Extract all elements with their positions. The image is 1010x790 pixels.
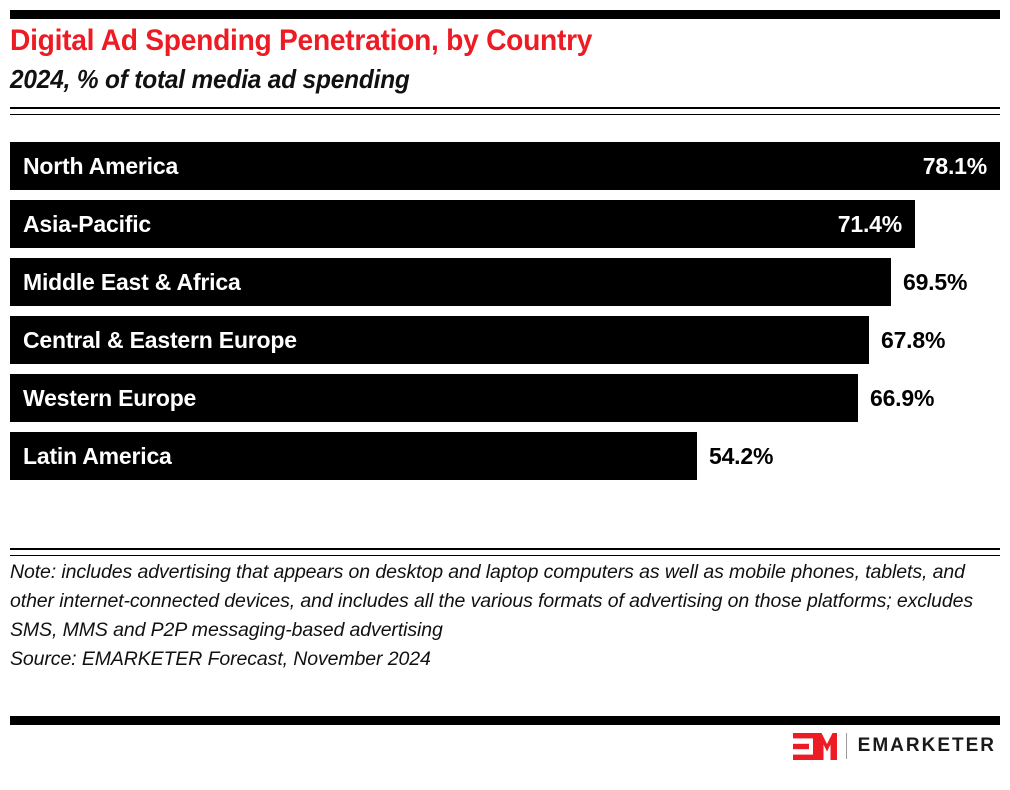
bar-value-label: 78.1% (923, 142, 987, 190)
bar-category-label: Asia-Pacific (23, 200, 151, 248)
header-divider-rule (10, 107, 1000, 115)
note-divider-rule (10, 548, 1000, 556)
chart-subtitle: 2024, % of total media ad spending (10, 62, 941, 96)
top-rule (10, 10, 1000, 19)
bar: Central & Eastern Europe (10, 316, 869, 364)
bar-chart-plot: North America78.1%Asia-Pacific71.4%Middl… (10, 142, 1000, 532)
chart-footnotes: Note: includes advertising that appears … (10, 558, 985, 674)
logo-wordmark: EMARKETER (858, 733, 996, 759)
bar-row: Western Europe66.9% (10, 374, 1000, 422)
bar: Western Europe (10, 374, 858, 422)
em-monogram-icon (793, 733, 837, 760)
bar: North America78.1% (10, 142, 1000, 190)
bar-value-label: 67.8% (881, 316, 945, 364)
bar-value-label: 71.4% (838, 200, 902, 248)
bar-value-label: 66.9% (870, 374, 934, 422)
bar-category-label: Latin America (23, 432, 172, 480)
bar-row: North America78.1% (10, 142, 1000, 190)
note-text: Note: includes advertising that appears … (10, 558, 985, 645)
bar-row: Central & Eastern Europe67.8% (10, 316, 1000, 364)
bar-category-label: North America (23, 142, 178, 190)
bar: Latin America (10, 432, 697, 480)
bar-category-label: Western Europe (23, 374, 196, 422)
logo-divider (846, 733, 847, 759)
chart-header: Digital Ad Spending Penetration, by Coun… (10, 22, 1000, 96)
bar-category-label: Central & Eastern Europe (23, 316, 297, 364)
chart-title: Digital Ad Spending Penetration, by Coun… (10, 22, 941, 60)
chart-canvas: Digital Ad Spending Penetration, by Coun… (0, 0, 1010, 790)
source-text: Source: EMARKETER Forecast, November 202… (10, 645, 985, 674)
bottom-rule (10, 716, 1000, 725)
bar-value-label: 54.2% (709, 432, 773, 480)
bar-row: Asia-Pacific71.4% (10, 200, 1000, 248)
bar-row: Middle East & Africa69.5% (10, 258, 1000, 306)
bar-category-label: Middle East & Africa (23, 258, 241, 306)
bar-row: Latin America54.2% (10, 432, 1000, 480)
bar: Middle East & Africa (10, 258, 891, 306)
bar-value-label: 69.5% (903, 258, 967, 306)
emarketer-logo: EMARKETER (793, 731, 996, 761)
bar: Asia-Pacific71.4% (10, 200, 915, 248)
